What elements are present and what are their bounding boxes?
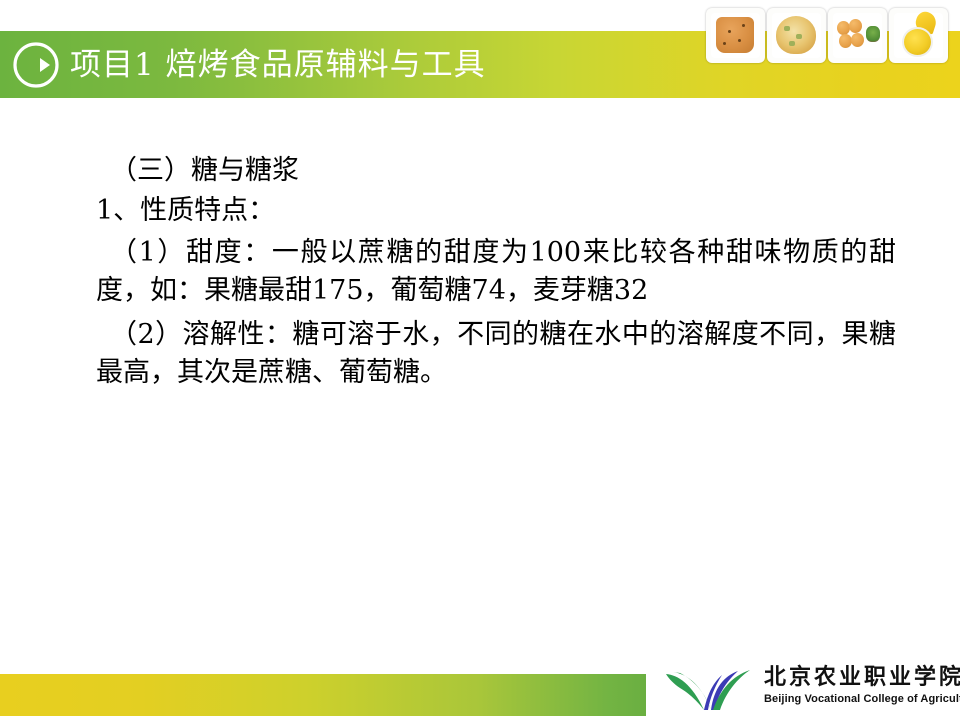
bread-slice-shape xyxy=(716,17,754,53)
batter-spoon-thumbnail xyxy=(889,8,948,63)
bread-spot xyxy=(742,24,745,27)
bread-slice-thumbnail xyxy=(706,8,765,63)
topping-chunk xyxy=(784,26,790,31)
college-logo-text: 北京农业职业学院 Beijing Vocational College of A… xyxy=(764,662,952,714)
slide-canvas: 项目1 焙烤食品原辅料与工具 xyxy=(0,0,960,720)
college-name-cn: 北京农业职业学院 xyxy=(764,664,960,690)
topping-chunk xyxy=(789,41,795,46)
bread-spot xyxy=(738,39,741,42)
page-title: 项目1 焙烤食品原辅料与工具 xyxy=(70,40,486,90)
bread-roll-shape xyxy=(837,21,850,35)
garnish-shape xyxy=(866,26,880,42)
bread-spot xyxy=(723,42,726,45)
baked-dish-thumbnail xyxy=(767,8,826,63)
header-thumbnail-strip xyxy=(706,8,954,63)
content-item-solubility: （2）溶解性：糖可溶于水，不同的糖在水中的溶解度不同，果糖最高，其次是蔗糖、葡萄… xyxy=(96,316,896,392)
content-heading: （三）糖与糖浆 xyxy=(96,152,896,190)
bread-spot xyxy=(728,30,731,33)
content-subheading: 1、性质特点： xyxy=(96,192,896,230)
college-logo: 北京农业职业学院 Beijing Vocational College of A… xyxy=(664,662,952,714)
circle-arrow-right-icon xyxy=(11,40,61,90)
college-name-en: Beijing Vocational College of Agricultur… xyxy=(764,693,960,706)
footer-gradient-bar xyxy=(0,674,646,716)
bread-roll-shape xyxy=(849,19,862,33)
college-w-emblem-icon xyxy=(664,666,759,712)
bread-roll-shape xyxy=(839,34,852,48)
bread-rolls-thumbnail xyxy=(828,8,887,63)
content-item-sweetness: （1）甜度：一般以蔗糖的甜度为100来比较各种甜味物质的甜度，如：果糖最甜175… xyxy=(96,234,896,310)
spoon-bowl-shape xyxy=(902,27,933,57)
bread-roll-shape xyxy=(851,33,864,47)
content-text-block: （三）糖与糖浆 1、性质特点： （1）甜度：一般以蔗糖的甜度为100来比较各种甜… xyxy=(96,152,896,392)
topping-chunk xyxy=(796,34,802,39)
